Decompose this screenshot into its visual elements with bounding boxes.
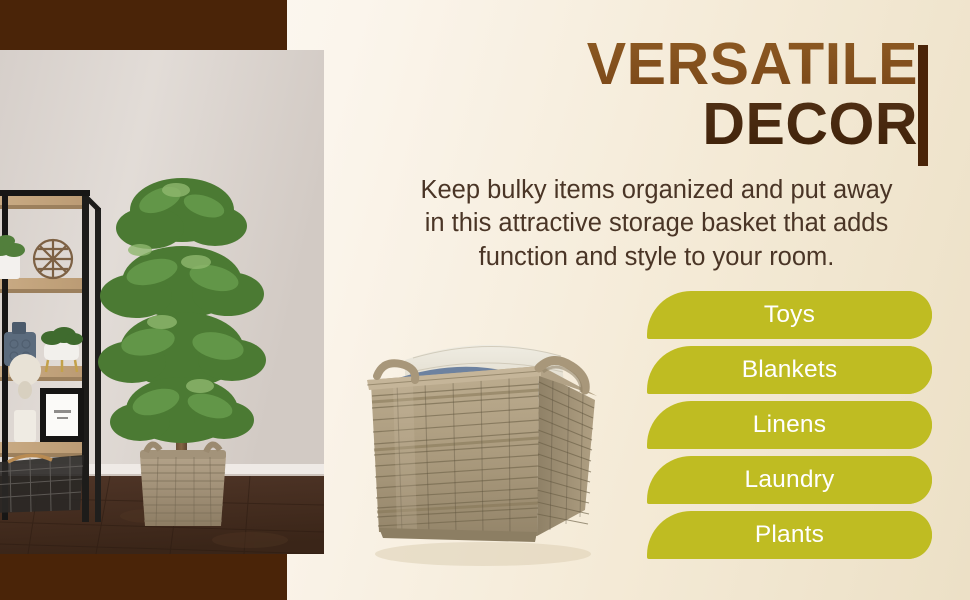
- title-accent-bar: [918, 45, 928, 166]
- use-case-label: Plants: [755, 523, 824, 548]
- description-line-1: Keep bulky items organized and put away: [363, 174, 950, 207]
- description-text: Keep bulky items organized and put away …: [363, 174, 950, 274]
- brown-band-bottom: [0, 547, 287, 600]
- use-case-pill-blankets: Blankets: [647, 346, 932, 394]
- product-feature-banner: Versatile Decor Keep bulky items organiz…: [0, 0, 970, 600]
- use-case-label: Linens: [753, 413, 826, 438]
- brown-band-top: [0, 0, 287, 51]
- description-line-3: function and style to your room.: [363, 241, 950, 274]
- use-case-pill-linens: Linens: [647, 401, 932, 449]
- use-case-pill-laundry: Laundry: [647, 456, 932, 504]
- use-case-list: Toys Blankets Linens Laundry Plants: [647, 291, 932, 559]
- use-case-label: Blankets: [742, 358, 838, 383]
- product-image-storage-basket: [353, 296, 623, 571]
- use-case-label: Toys: [764, 303, 815, 328]
- headline-line-2: Decor: [345, 96, 918, 154]
- use-case-pill-toys: Toys: [647, 291, 932, 339]
- lifestyle-room-photo: [0, 50, 324, 554]
- headline-line-1: Versatile: [345, 36, 918, 94]
- page-title: Versatile Decor: [345, 36, 940, 154]
- description-line-2: in this attractive storage basket that a…: [363, 207, 950, 240]
- use-case-label: Laundry: [745, 468, 835, 493]
- use-case-pill-plants: Plants: [647, 511, 932, 559]
